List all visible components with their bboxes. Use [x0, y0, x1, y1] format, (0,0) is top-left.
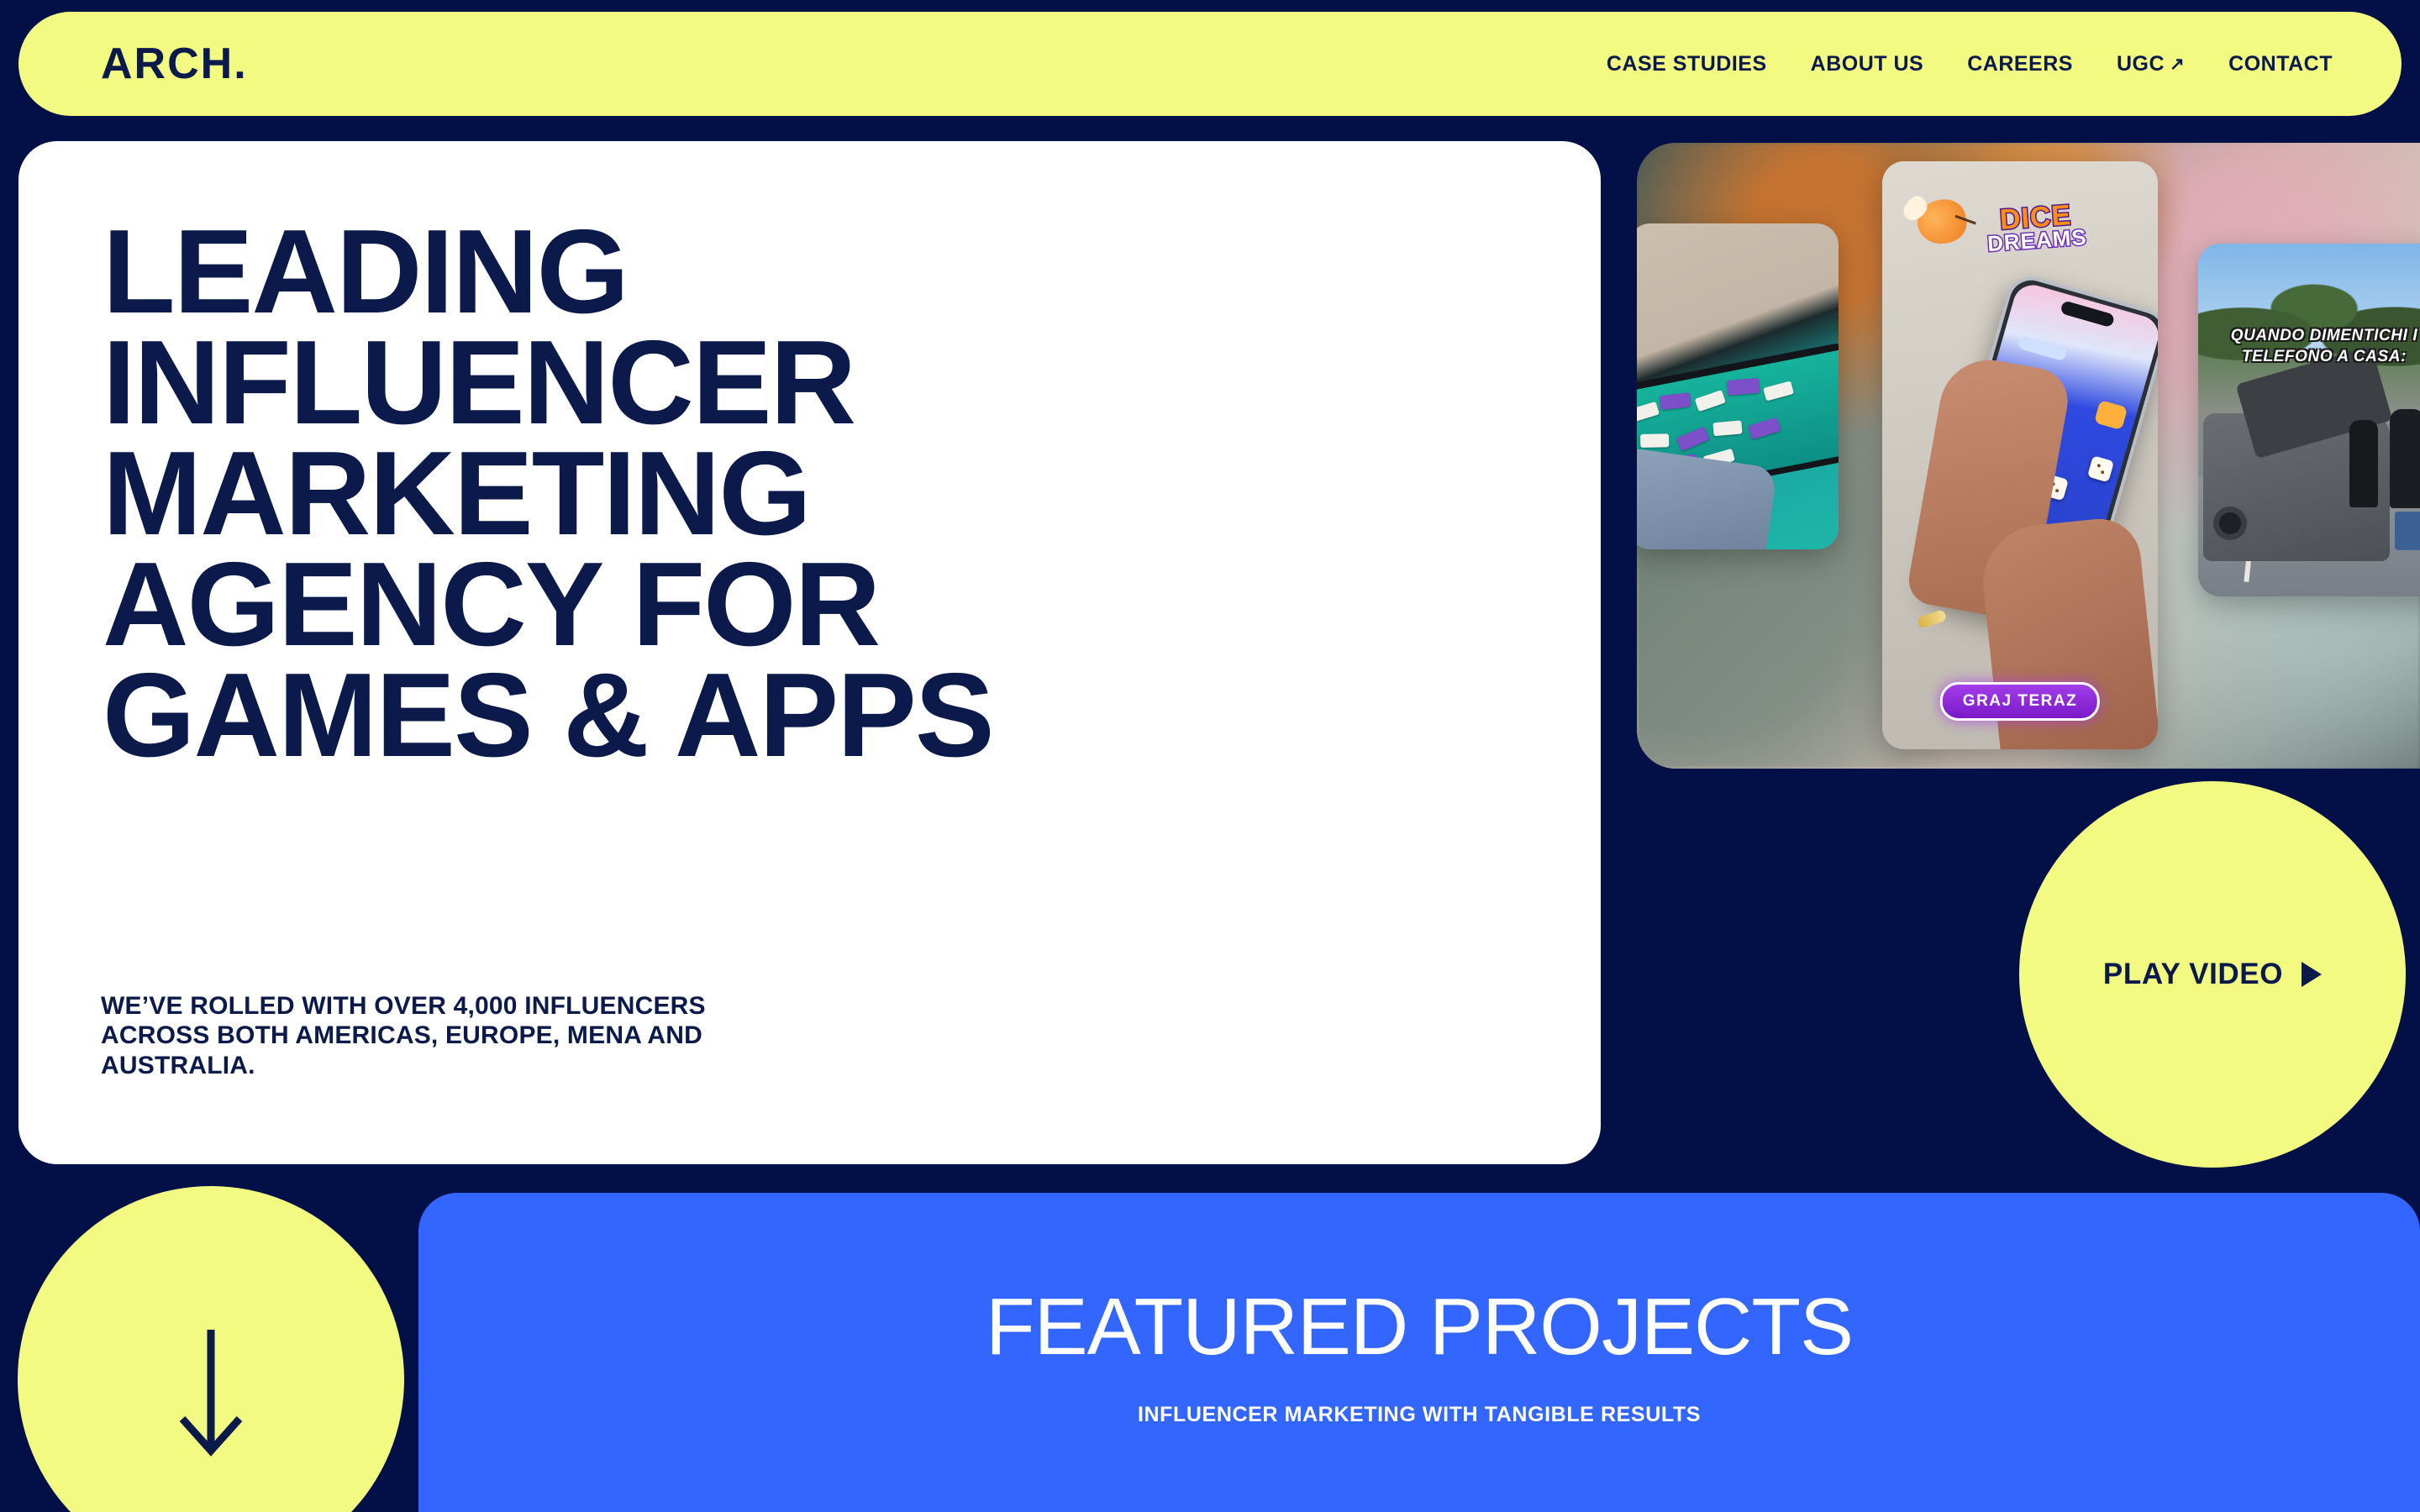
domino-tile: [1695, 390, 1726, 412]
dice-dreams-logo-line2: DREAMS: [1986, 227, 2087, 254]
domino-tile: [1640, 433, 1669, 448]
headline-line-2: INFLUENCER: [103, 328, 1601, 438]
featured-projects-section: FEATURED PROJECTS INFLUENCER MARKETING W…: [418, 1193, 2420, 1512]
brand-logo[interactable]: ARCH.: [101, 42, 248, 86]
dice-dreams-clip[interactable]: DICE DREAMS GRAJ TERAZ: [1882, 161, 2158, 749]
subcopy-line-3: AUSTRALIA.: [101, 1051, 840, 1080]
domino-tile: [1727, 378, 1760, 396]
play-video-label: PLAY VIDEO: [2103, 958, 2283, 991]
reel-caption: QUANDO DIMENTICHI I TELEFONO A CASA:: [2198, 325, 2420, 368]
nav-item-careers[interactable]: CAREERS: [1967, 52, 2073, 76]
domino-tile: [1660, 392, 1691, 410]
site-header: ARCH. CASE STUDIES ABOUT US CAREERS UGC …: [18, 12, 2402, 116]
subcopy-line-1: WE’VE ROLLED WITH OVER 4,000 INFLUENCERS: [101, 991, 840, 1021]
featured-projects-title: FEATURED PROJECTS: [418, 1287, 2420, 1368]
nav-label-careers: CAREERS: [1967, 52, 2073, 76]
nav-label-case-studies: CASE STUDIES: [1607, 52, 1767, 76]
nav-item-about-us[interactable]: ABOUT US: [1811, 52, 1924, 76]
person-left: [2349, 420, 2378, 507]
graj-teraz-cta-badge[interactable]: GRAJ TERAZ: [1940, 682, 2100, 721]
nav-item-contact[interactable]: CONTACT: [2228, 52, 2333, 76]
hero-media-panel: DICE DREAMS GRAJ TERAZ: [1637, 143, 2420, 769]
nav-label-contact: CONTACT: [2228, 52, 2333, 76]
domino-tile: [1763, 381, 1794, 401]
person-jeans: [2395, 512, 2420, 550]
dice-dreams-mascot-icon: [1913, 196, 1970, 249]
arrow-down-icon: [176, 1325, 246, 1459]
game-hud-bar: [2018, 335, 2068, 361]
headline-line-3: MARKETING: [103, 438, 1601, 549]
domino-tile: [1712, 420, 1742, 436]
headline-line-5: GAMES & APPS: [103, 660, 1601, 771]
scroll-down-button[interactable]: [18, 1186, 404, 1512]
game-hud-icon: [2094, 400, 2128, 430]
domino-game-clip[interactable]: [1637, 223, 1839, 549]
car-reel-clip[interactable]: QUANDO DIMENTICHI I TELEFONO A CASA:: [2198, 244, 2420, 596]
main-navigation: CASE STUDIES ABOUT US CAREERS UGC ↗ CONT…: [1607, 52, 2333, 76]
domino-tile: [1637, 402, 1660, 423]
nav-item-ugc[interactable]: UGC ↗: [2117, 52, 2185, 76]
phone-notch: [2060, 300, 2115, 328]
external-link-arrow-icon: ↗: [2170, 55, 2185, 73]
subcopy-line-2: ACROSS BOTH AMERICAS, EUROPE, MENA AND: [101, 1021, 840, 1050]
play-triangle-icon: [2302, 962, 2322, 987]
nav-item-case-studies[interactable]: CASE STUDIES: [1607, 52, 1767, 76]
hero-subcopy: WE’VE ROLLED WITH OVER 4,000 INFLUENCERS…: [101, 991, 840, 1080]
person-right: [2390, 409, 2420, 508]
dice-dreams-logo: DICE DREAMS: [1985, 202, 2087, 254]
headline-line-4: AGENCY FOR: [103, 549, 1601, 660]
page-root: ARCH. CASE STUDIES ABOUT US CAREERS UGC …: [0, 0, 2420, 1512]
game-die: [2087, 455, 2114, 482]
domino-tile: [1676, 427, 1710, 452]
play-video-button[interactable]: PLAY VIDEO: [2019, 781, 2406, 1168]
headline-line-1: LEADING: [103, 217, 1601, 328]
finger-ring: [1917, 609, 1948, 629]
domino-tile: [1748, 417, 1781, 440]
nav-label-ugc: UGC: [2117, 52, 2165, 76]
car-wheel: [2213, 507, 2247, 540]
nav-label-about-us: ABOUT US: [1811, 52, 1924, 76]
featured-projects-subtitle: INFLUENCER MARKETING WITH TANGIBLE RESUL…: [418, 1403, 2420, 1427]
hero-headline: LEADING INFLUENCER MARKETING AGENCY FOR …: [103, 217, 1601, 771]
